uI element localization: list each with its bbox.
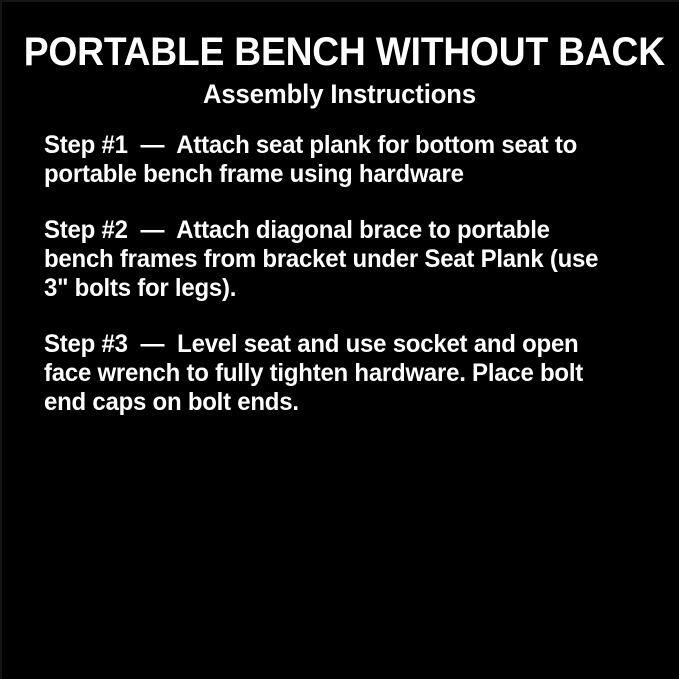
header-block: PORTABLE BENCH WITHOUT BACK Assembly Ins… [0, 30, 679, 110]
instruction-step-2: Step #2 — Attach diagonal brace to porta… [44, 216, 620, 303]
instruction-step-1: Step #1 — Attach seat plank for bottom s… [44, 131, 620, 189]
instruction-steps-list: Step #1 — Attach seat plank for bottom s… [44, 131, 644, 417]
page-title: PORTABLE BENCH WITHOUT BACK [24, 30, 655, 74]
assembly-instructions-card: PORTABLE BENCH WITHOUT BACK Assembly Ins… [0, 0, 679, 679]
instruction-step-3: Step #3 — Level seat and use socket and … [44, 330, 620, 417]
page-subtitle: Assembly Instructions [17, 78, 662, 110]
